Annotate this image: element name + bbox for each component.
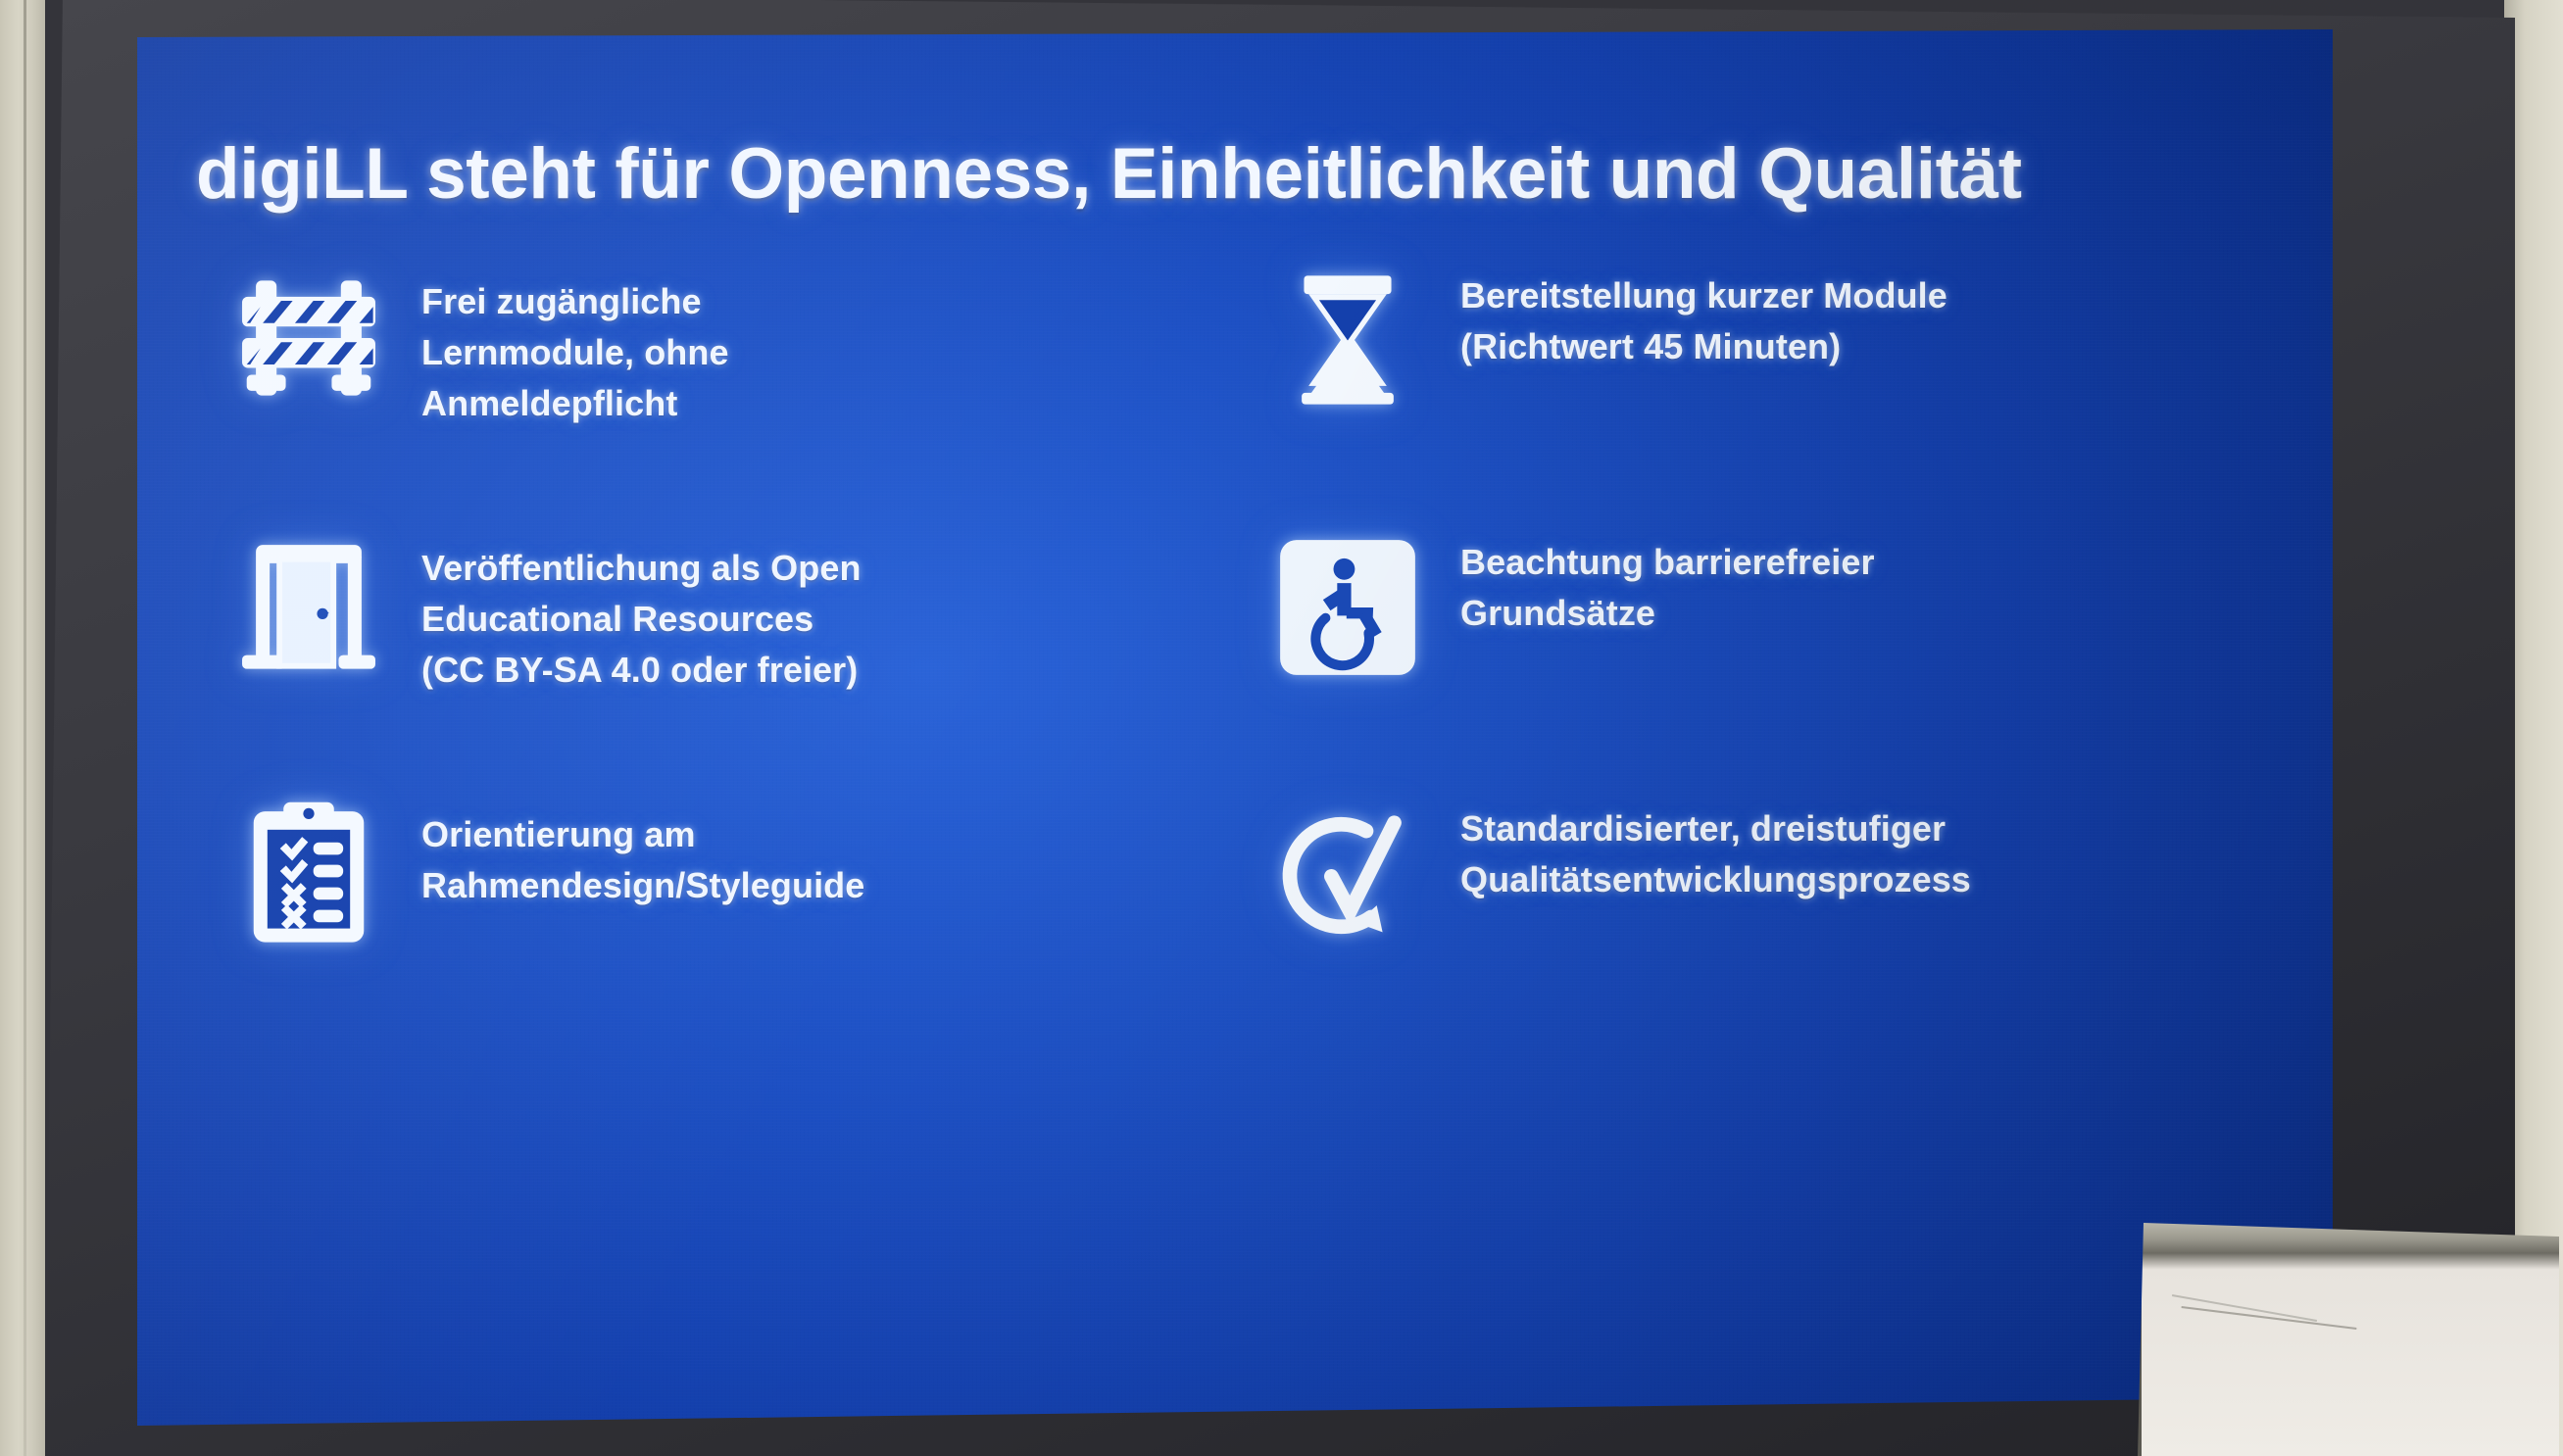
bullet-line: Qualitätsentwicklungsprozess [1460,854,1971,905]
bullet-item-hourglass: Bereitstellung kurzer Module (Richtwert … [1235,261,2274,527]
flipchart-crease [2182,1306,2357,1330]
slide-title: digiLL steht für Openness, Einheitlichke… [196,133,2235,215]
bullet-item-accessibility: Beachtung barrierefreier Grundsätze [1235,527,2274,794]
presentation-slide: digiLL steht für Openness, Einheitlichke… [137,29,2333,1426]
bullet-line: Beachtung barrierefreier [1460,537,1875,588]
icon-cell [1235,527,1460,687]
bullet-text: Bereitstellung kurzer Module (Richtwert … [1460,261,1947,372]
bullet-line: Lernmodule, ohne [421,327,729,378]
photo-of-projected-slide: digiLL steht für Openness, Einheitlichke… [0,0,2563,1456]
bullet-text: Beachtung barrierefreier Grundsätze [1460,527,1875,639]
bullet-item-open-door: Veröffentlichung als Open Educational Re… [196,527,1235,794]
hourglass-icon [1274,267,1421,418]
icon-cell [196,794,421,949]
bullet-line: Standardisierter, dreistufiger [1460,803,1971,854]
bullet-text: Frei zugängliche Lernmodule, ohne Anmeld… [421,261,729,428]
bullet-line: (CC BY-SA 4.0 oder freier) [421,645,862,696]
bullet-text: Standardisierter, dreistufiger Qualitäts… [1460,794,1971,905]
bullet-grid: Frei zugängliche Lernmodule, ohne Anmeld… [196,261,2274,1060]
bullet-text: Orientierung am Rahmendesign/Styleguide [421,794,864,911]
barrier-icon [235,265,382,416]
bullet-line: Rahmendesign/Styleguide [421,860,864,911]
icon-cell [196,527,421,683]
icon-cell [1235,261,1460,418]
bullet-text: Veröffentlichung als Open Educational Re… [421,527,862,695]
icon-cell [196,261,421,416]
bullet-item-barrier: Frei zugängliche Lernmodule, ohne Anmeld… [196,261,1235,527]
wheelchair-accessibility-icon [1273,533,1422,687]
open-door-icon [235,531,382,683]
quality-cycle-check-icon [1273,800,1422,953]
bullet-line: Bereitstellung kurzer Module [1460,270,1947,321]
bullet-line: Grundsätze [1460,588,1875,639]
bullet-column-right: Bereitstellung kurzer Module (Richtwert … [1235,261,2274,1060]
bullet-line: Educational Resources [421,594,862,645]
flipchart-whiteboard [2138,1223,2563,1456]
wall-seam [24,0,26,1456]
icon-cell [1235,794,1460,953]
bullet-line: Orientierung am [421,809,864,860]
bullet-line: Frei zugängliche [421,276,729,327]
bullet-column-left: Frei zugängliche Lernmodule, ohne Anmeld… [196,261,1235,1060]
bullet-item-quality-cycle: Standardisierter, dreistufiger Qualitäts… [1235,794,2274,1060]
bullet-line: Veröffentlichung als Open [421,543,862,594]
room-wall-left [0,0,45,1456]
bullet-line: Anmeldepflicht [421,378,729,429]
bullet-item-clipboard: Orientierung am Rahmendesign/Styleguide [196,794,1235,1060]
clipboard-checklist-icon [235,798,382,949]
bullet-line: (Richtwert 45 Minuten) [1460,321,1947,372]
